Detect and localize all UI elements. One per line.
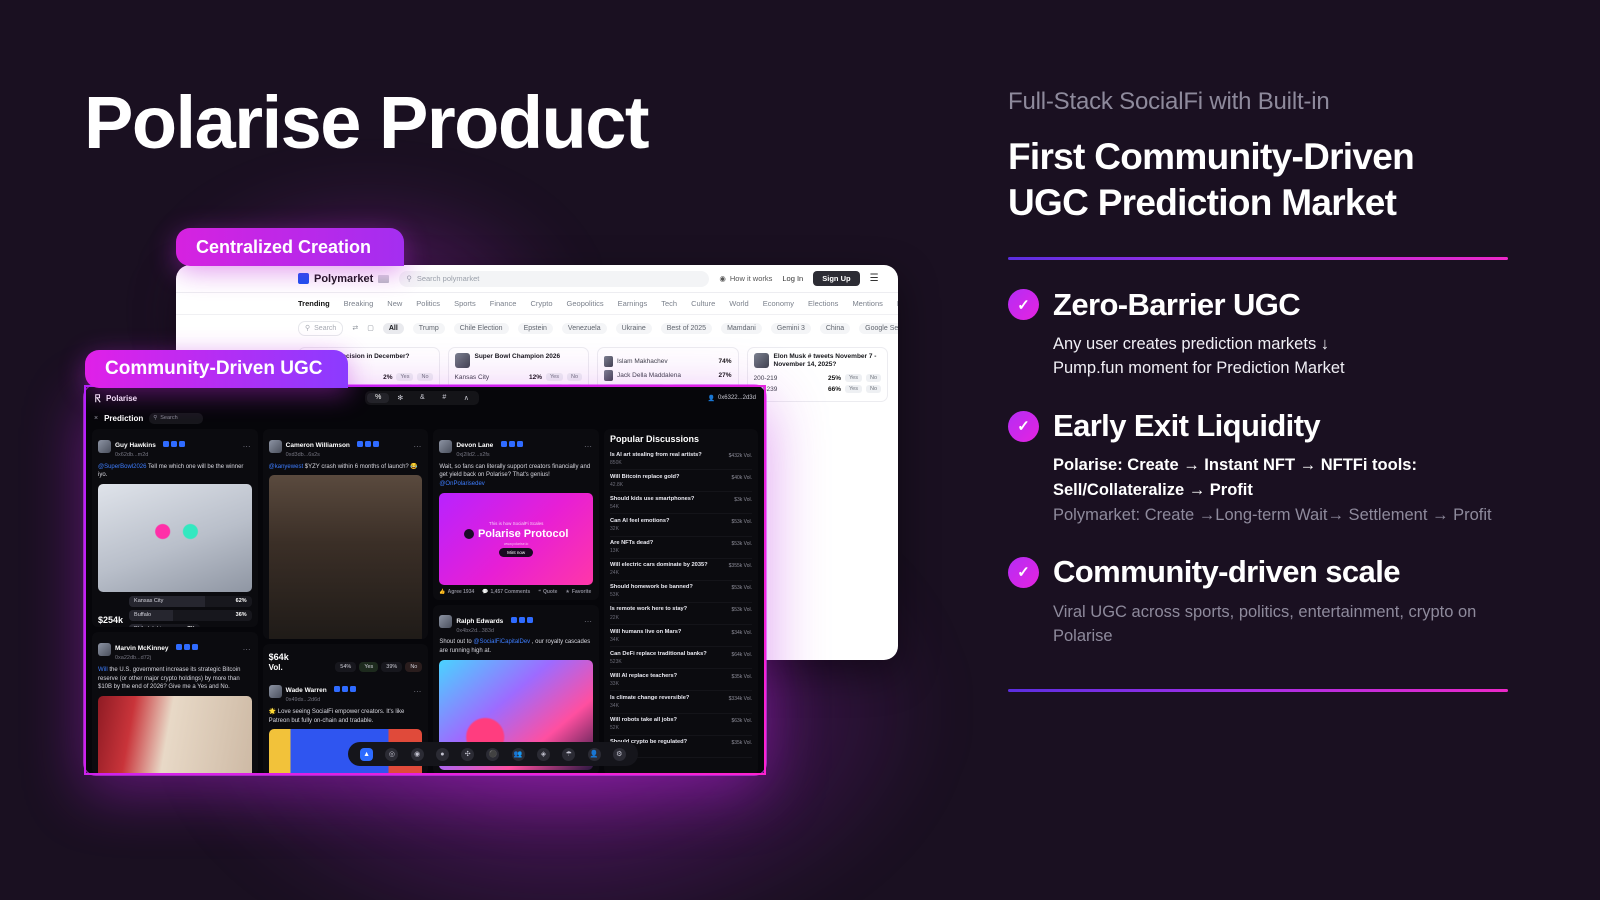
discussion-count: 13K bbox=[610, 548, 653, 554]
nav-item-new[interactable]: New bbox=[387, 299, 402, 308]
polarise-brand-label: Polarise bbox=[106, 394, 137, 403]
chip-ukraine[interactable]: Ukraine bbox=[616, 323, 652, 334]
umbrella-icon[interactable]: ☂ bbox=[562, 748, 575, 761]
no-button[interactable]: No bbox=[417, 373, 432, 381]
post-handle: 0x62db...m2d bbox=[115, 452, 185, 459]
verified-badges-icon bbox=[334, 686, 356, 692]
chip-chile-election[interactable]: Chile Election bbox=[454, 323, 509, 334]
discussion-item[interactable]: Should kids use smartphones?54K$3k Vol. bbox=[610, 492, 752, 514]
odds-percent: 36% bbox=[236, 612, 247, 618]
more-options-icon[interactable]: ⋯ bbox=[413, 442, 422, 451]
feed-post[interactable]: Guy Hawkins 0x62db...m2d ⋯ @SuperBowl202… bbox=[92, 429, 258, 627]
protocol-url: www.polarise.io bbox=[504, 542, 528, 546]
chip-china[interactable]: China bbox=[820, 323, 850, 334]
discussion-question: Can DeFi replace traditional banks? bbox=[610, 651, 707, 658]
globe-icon[interactable]: ◉ bbox=[411, 748, 424, 761]
fighter-icon bbox=[604, 356, 613, 367]
post-handle: 0xa22db...d72j bbox=[115, 655, 198, 662]
post-text: @SuperBowl2026 Tell me which one will be… bbox=[98, 463, 252, 480]
polarise-bottom-nav: ▲ ◎ ◉ ● ✣ ⚫ 👥 ◈ ☂ 👤 ⚙ bbox=[348, 742, 638, 766]
discussion-volume: $40k Vol. bbox=[731, 474, 752, 481]
how-it-works-label: How it works bbox=[730, 274, 773, 283]
odds-name: Philadelphia bbox=[134, 626, 164, 627]
post-volume-label: Vol. bbox=[98, 626, 123, 627]
avatar bbox=[269, 685, 282, 698]
badge-centralized-creation: Centralized Creation bbox=[176, 228, 404, 266]
market-outcome-row: 200-219 25% Yes No bbox=[754, 374, 882, 382]
discussion-volume: $432k Vol. bbox=[729, 452, 752, 459]
post-prefix: Shout out to bbox=[439, 639, 471, 645]
post-mention[interactable]: @kanyewest bbox=[269, 464, 303, 470]
filter-search-placeholder: Search bbox=[314, 325, 336, 332]
page-title: Polarise Product bbox=[84, 86, 648, 160]
avatar bbox=[439, 615, 452, 628]
post-image bbox=[98, 696, 252, 775]
polarise-search-input[interactable]: ⚲ Search bbox=[149, 413, 203, 424]
post-author: Wade Warren bbox=[286, 687, 327, 694]
discussion-volume: $64k Vol. bbox=[731, 651, 752, 658]
feed-post[interactable]: Devon Lane 0xj2lld2...s2fs ⋯ Wait, so fa… bbox=[433, 429, 599, 600]
polymarket-logo-icon bbox=[298, 273, 309, 284]
nav-item-finance[interactable]: Finance bbox=[490, 299, 517, 308]
quote-label: Quote bbox=[543, 589, 557, 595]
odds-row[interactable]: Kansas City62% bbox=[129, 596, 252, 607]
tab-prediction[interactable]: Prediction bbox=[104, 414, 143, 423]
no-button[interactable]: No bbox=[567, 373, 582, 381]
agree-button[interactable]: 👍 Agree 1934 bbox=[439, 589, 474, 595]
polymarket-filter-bar: ⚲ Search ⇄ ▢ All Trump Chile Election Ep… bbox=[176, 315, 898, 341]
market-card[interactable]: Elon Musk # tweets November 7 - November… bbox=[747, 347, 889, 402]
market-outcome-row: Islam Makhachev 74% bbox=[604, 356, 732, 367]
discussion-item[interactable]: Is climate change reversible?34K$334k Vo… bbox=[610, 691, 752, 713]
favorite-label: Favorite bbox=[572, 589, 591, 595]
post-volume: $64k bbox=[269, 653, 289, 663]
discussion-volume: $53k Vol. bbox=[731, 518, 752, 525]
outcome-name: Kansas City bbox=[455, 374, 525, 381]
toolbar-pill-hash[interactable]: # bbox=[433, 393, 455, 403]
comments-label: 1,457 Comments bbox=[491, 589, 531, 595]
nav-item-culture[interactable]: Culture bbox=[691, 299, 715, 308]
discussion-item[interactable]: Will electric cars dominate by 2035?24K$… bbox=[610, 559, 752, 581]
discussion-volume: $35k Vol. bbox=[731, 673, 752, 680]
discussion-volume: $53k Vol. bbox=[731, 606, 752, 613]
post-text: Shout out to @SocialFiCapitalDev , our r… bbox=[439, 638, 593, 655]
feature-early-exit-liquidity: ✓ Early Exit Liquidity Polarise: Create … bbox=[1008, 409, 1508, 527]
flag-icon bbox=[378, 275, 389, 283]
feature-title: Early Exit Liquidity bbox=[1053, 409, 1320, 443]
discussion-volume: $334k Vol. bbox=[729, 695, 752, 702]
post-volume: $254k bbox=[98, 616, 123, 626]
post-actions: 👍 Agree 1934 💬 1,457 Comments ❝ Quote ★ … bbox=[439, 589, 593, 595]
nav-item-breaking[interactable]: Breaking bbox=[344, 299, 374, 308]
search-icon: ⚲ bbox=[153, 415, 157, 421]
verified-badges-icon bbox=[501, 441, 523, 447]
polarise-topbar: Polarise % ✻ & # ∧ 👤 0x6322...2d3d bbox=[86, 387, 764, 409]
market-outcome-row: 220-239 66% Yes No bbox=[754, 385, 882, 393]
discussion-question: Should homework be banned? bbox=[610, 584, 693, 591]
discussion-count: 53K bbox=[610, 592, 693, 598]
post-volume-label: Vol. bbox=[269, 663, 289, 672]
discussion-count: 22K bbox=[610, 615, 687, 621]
toolbar-pill-caret[interactable]: ∧ bbox=[455, 393, 477, 403]
feature-community-driven-scale: ✓ Community-driven scale Viral UGC acros… bbox=[1008, 555, 1508, 649]
post-body: Wait, so fans can literally support crea… bbox=[439, 464, 590, 479]
post-odds: $64k Vol. 54% Yes 39% No bbox=[269, 653, 423, 672]
post-text: @kanyewest $YZY crash within 6 months of… bbox=[269, 463, 423, 472]
post-handle: 0xj2lld2...s2fs bbox=[456, 452, 522, 459]
protocol-title-label: Polarise Protocol bbox=[478, 528, 568, 540]
discussion-question: Will robots take all jobs? bbox=[610, 717, 677, 724]
fighter-icon bbox=[604, 370, 613, 381]
headline: First Community-Driven UGC Prediction Ma… bbox=[1008, 134, 1508, 227]
post-author: Cameron Williamson bbox=[286, 442, 350, 449]
polymarket-filter-search-input[interactable]: ⚲ Search bbox=[298, 321, 343, 336]
polymarket-nav: Trending Breaking New Politics Sports Fi… bbox=[176, 293, 898, 315]
wallet-button[interactable]: 👤 0x6322...2d3d bbox=[707, 395, 756, 402]
discussion-question: Will Bitcoin replace gold? bbox=[610, 474, 679, 481]
discussion-count: 42.8K bbox=[610, 482, 679, 488]
person-icon[interactable]: 👤 bbox=[588, 748, 601, 761]
home-icon[interactable]: ▲ bbox=[360, 748, 373, 761]
nav-item-tech[interactable]: Tech bbox=[661, 299, 677, 308]
polymarket-logo: Polymarket bbox=[298, 273, 389, 285]
discussion-count: 34K bbox=[610, 703, 689, 709]
market-title: Elon Musk # tweets November 7 - November… bbox=[774, 353, 882, 369]
toolbar-pill-star[interactable]: ✻ bbox=[389, 393, 411, 403]
toolbar-pill-percent[interactable]: % bbox=[367, 393, 389, 403]
odds-name: Buffalo bbox=[134, 612, 151, 618]
odds-percent: 62% bbox=[236, 598, 247, 604]
discussion-question: Will electric cars dominate by 2035? bbox=[610, 562, 708, 569]
chip-best-of-2025[interactable]: Best of 2025 bbox=[661, 323, 712, 334]
divider-bottom bbox=[1008, 689, 1508, 692]
odds-name: Kansas City bbox=[134, 598, 163, 604]
discussion-volume: $3k Vol. bbox=[734, 496, 752, 503]
sparkle-icon[interactable]: ✣ bbox=[461, 748, 474, 761]
feature-line-1: Viral UGC across sports, politics, enter… bbox=[1053, 600, 1508, 650]
discussion-item[interactable]: Will humans live on Mars?34K$34k Vol. bbox=[610, 625, 752, 647]
outcome-percent: 2% bbox=[383, 374, 392, 381]
discussion-item[interactable]: Is AI art stealing from real artists?850… bbox=[610, 448, 752, 470]
polarise-feed-body: Guy Hawkins 0x62db...m2d ⋯ @SuperBowl202… bbox=[86, 427, 764, 775]
more-options-icon[interactable]: ⋯ bbox=[584, 617, 593, 626]
wallet-address: 0x6322...2d3d bbox=[718, 395, 756, 401]
polymarket-search-placeholder: Search polymarket bbox=[417, 274, 480, 283]
feed-column-2: Cameron Williamson 0xd3db...6s2s ⋯ @kany… bbox=[263, 429, 429, 775]
check-icon: ✓ bbox=[1008, 557, 1039, 588]
more-options-icon[interactable]: ⋯ bbox=[413, 687, 422, 696]
post-text: 🌟 Love seeing SocialFi empower creators.… bbox=[269, 708, 423, 725]
nav-item-politics[interactable]: Politics bbox=[416, 299, 440, 308]
bookmark-icon[interactable]: ▢ bbox=[367, 324, 374, 332]
discussion-count: 54K bbox=[610, 504, 694, 510]
no-button[interactable]: No bbox=[866, 374, 881, 382]
discussion-count: 24K bbox=[610, 570, 708, 576]
outcome-percent: 27% bbox=[718, 372, 731, 379]
market-title: Super Bowl Champion 2026 bbox=[475, 353, 561, 361]
feed-column-3: Devon Lane 0xj2lld2...s2fs ⋯ Wait, so fa… bbox=[433, 429, 599, 775]
discussion-count: 34K bbox=[610, 637, 681, 643]
discussion-volume: $53k Vol. bbox=[731, 540, 752, 547]
chip-venezuela[interactable]: Venezuela bbox=[562, 323, 607, 334]
post-odds: $254k Vol. Kansas City62% Buffalo36% Phi… bbox=[98, 596, 252, 627]
odds-percent-yes: 54% bbox=[335, 662, 356, 672]
chip-trump[interactable]: Trump bbox=[413, 323, 445, 334]
chip-gemini-3[interactable]: Gemini 3 bbox=[771, 323, 811, 334]
verified-badges-icon bbox=[357, 441, 379, 447]
post-image bbox=[98, 484, 252, 592]
polymarket-topbar: Polymarket ⚲ Search polymarket ◉ How it … bbox=[176, 265, 898, 293]
outcome-percent: 74% bbox=[718, 358, 731, 365]
feature-line-1: Any user creates prediction markets ↓ bbox=[1053, 332, 1508, 357]
outcome-name: Islam Makhachev bbox=[617, 358, 714, 365]
headline-line-2: UGC Prediction Market bbox=[1008, 180, 1508, 226]
search-icon: ⚲ bbox=[406, 274, 412, 283]
post-author: Marvin McKinney bbox=[115, 645, 168, 652]
avatar bbox=[98, 643, 111, 656]
discussion-count: 523K bbox=[610, 659, 707, 665]
discussion-item[interactable]: Can DeFi replace traditional banks?523K$… bbox=[610, 647, 752, 669]
nav-item-crypto[interactable]: Crypto bbox=[530, 299, 552, 308]
yes-button[interactable]: Yes bbox=[396, 373, 413, 381]
post-mention[interactable]: @SocialFiCapitalDev bbox=[473, 639, 530, 645]
how-it-works-link[interactable]: ◉ How it works bbox=[719, 274, 772, 283]
discussion-item[interactable]: Will AI replace teachers?33K$35k Vol. bbox=[610, 669, 752, 691]
agree-label: Agree 1934 bbox=[448, 589, 475, 595]
yes-button[interactable]: Yes bbox=[845, 374, 862, 382]
verified-badges-icon bbox=[511, 617, 533, 623]
gear-icon[interactable]: ⚙ bbox=[613, 748, 626, 761]
post-body: the U.S. government increase its strateg… bbox=[98, 667, 240, 690]
post-image bbox=[269, 475, 423, 639]
nav-item-elections[interactable]: Elections bbox=[808, 299, 838, 308]
polarise-tabbar: × Prediction ⚲ Search bbox=[86, 409, 764, 427]
post-mention[interactable]: @SuperBowl2026 bbox=[98, 464, 146, 470]
divider-top bbox=[1008, 257, 1508, 260]
right-panel: Full-Stack SocialFi with Built-in First … bbox=[1008, 88, 1508, 692]
discussion-question: Can AI feel emotions? bbox=[610, 518, 670, 525]
post-body: $YZY crash within 6 months of launch? 😂 bbox=[305, 464, 418, 470]
polarise-logo-icon bbox=[94, 394, 102, 403]
discussion-volume: $35k Vol. bbox=[731, 739, 752, 746]
discussion-volume: $34k Vol. bbox=[731, 629, 752, 636]
chip-epstein[interactable]: Epstein bbox=[518, 323, 553, 334]
info-icon: ◉ bbox=[719, 274, 726, 283]
verified-badges-icon bbox=[163, 441, 185, 447]
feature-line-2: Polymarket: Create →Long-term Wait→ Sett… bbox=[1053, 503, 1508, 528]
post-text: Wait, so fans can literally support crea… bbox=[439, 463, 593, 489]
discussion-volume: $63k Vol. bbox=[731, 717, 752, 724]
post-author: Ralph Edwards bbox=[456, 618, 503, 625]
post-mention[interactable]: Will bbox=[98, 667, 108, 673]
chat-icon[interactable]: ⚫ bbox=[486, 748, 499, 761]
verified-badges-icon bbox=[176, 644, 198, 650]
person-icon: 👤 bbox=[707, 395, 714, 402]
market-thumbnail bbox=[455, 353, 470, 368]
discussion-question: Is remote work here to stay? bbox=[610, 606, 687, 613]
post-author: Guy Hawkins bbox=[115, 442, 156, 449]
nav-item-economy[interactable]: Economy bbox=[763, 299, 794, 308]
discussion-item[interactable]: Can AI feel emotions?32K$53k Vol. bbox=[610, 514, 752, 536]
eyebrow-text: Full-Stack SocialFi with Built-in bbox=[1008, 88, 1508, 116]
post-handle: 0x49ds...2d6d bbox=[286, 697, 357, 704]
discussion-item[interactable]: Will Bitcoin replace gold?42.8K$40k Vol. bbox=[610, 470, 752, 492]
check-icon: ✓ bbox=[1008, 289, 1039, 320]
market-outcome-row: Jack Della Maddalena 27% bbox=[604, 370, 732, 381]
feature-line-2: Pump.fun moment for Prediction Market bbox=[1053, 356, 1508, 381]
feed-post[interactable]: Marvin McKinney 0xa22db...d72j ⋯ Will th… bbox=[92, 632, 258, 775]
discussion-count: 850K bbox=[610, 460, 702, 466]
post-author: Devon Lane bbox=[456, 442, 493, 449]
avatar bbox=[98, 440, 111, 453]
outcome-percent: 25% bbox=[828, 375, 841, 382]
post-handle: 0x4bx2d...383d bbox=[456, 628, 532, 635]
yes-button[interactable]: Yes bbox=[359, 662, 378, 672]
nav-item-sports[interactable]: Sports bbox=[454, 299, 476, 308]
odds-percent: 8% bbox=[187, 626, 195, 627]
outcome-percent: 66% bbox=[828, 386, 841, 393]
discussion-question: Are NFTs dead? bbox=[610, 540, 653, 547]
polarise-logo: Polarise bbox=[94, 394, 137, 403]
signup-button[interactable]: Sign Up bbox=[813, 271, 859, 286]
popular-discussions-title: Popular Discussions bbox=[610, 434, 752, 444]
feature-title: Zero-Barrier UGC bbox=[1053, 288, 1300, 322]
post-handle: 0xd3db...6s2s bbox=[286, 452, 380, 459]
check-icon: ✓ bbox=[1008, 411, 1039, 442]
more-options-icon[interactable]: ⋯ bbox=[584, 442, 593, 451]
search-icon: ⚲ bbox=[305, 324, 310, 332]
feed-post[interactable]: Cameron Williamson 0xd3db...6s2s ⋯ @kany… bbox=[263, 429, 429, 639]
yes-button[interactable]: Yes bbox=[546, 373, 563, 381]
polarise-logo-icon bbox=[464, 529, 474, 539]
compass-icon[interactable]: ◎ bbox=[385, 748, 398, 761]
polarise-toolbar: % ✻ & # ∧ bbox=[365, 391, 479, 405]
protocol-title: Polarise Protocol bbox=[464, 528, 568, 540]
toolbar-pill-amp[interactable]: & bbox=[411, 393, 433, 403]
outcome-percent: 12% bbox=[529, 374, 542, 381]
badge-community-driven-ugc: Community-Driven UGC bbox=[85, 350, 348, 388]
discussion-item[interactable]: Will robots take all jobs?52K$63k Vol. bbox=[610, 714, 752, 736]
nav-item-earnings[interactable]: Earnings bbox=[618, 299, 648, 308]
odds-row[interactable]: Buffalo36% bbox=[129, 610, 252, 621]
discussion-count: 52K bbox=[610, 725, 677, 731]
outcome-name: 200-219 bbox=[754, 375, 824, 382]
discussion-item[interactable]: Is remote work here to stay?22K$53k Vol. bbox=[610, 603, 752, 625]
protocol-subtitle: This is how SocialFi Scales bbox=[489, 521, 544, 526]
odds-row[interactable]: Philadelphia8% bbox=[129, 624, 200, 627]
avatar bbox=[439, 440, 452, 453]
login-button[interactable]: Log In bbox=[782, 274, 803, 283]
clock-icon[interactable]: ● bbox=[436, 748, 449, 761]
feature-title: Community-driven scale bbox=[1053, 555, 1400, 589]
nav-item-trending[interactable]: Trending bbox=[298, 299, 330, 308]
discussion-question: Will humans live on Mars? bbox=[610, 629, 681, 636]
people-icon[interactable]: 👥 bbox=[512, 748, 525, 761]
chip-google-search[interactable]: Google Search bbox=[859, 323, 898, 334]
discussion-question: Will AI replace teachers? bbox=[610, 673, 677, 680]
more-options-icon[interactable]: ⋯ bbox=[243, 442, 252, 451]
outcome-name: Jack Della Maddalena bbox=[617, 372, 714, 379]
shield-icon[interactable]: ◈ bbox=[537, 748, 550, 761]
yes-button[interactable]: Yes bbox=[845, 385, 862, 393]
post-image-protocol-card: This is how SocialFi Scales Polarise Pro… bbox=[439, 493, 593, 585]
no-button[interactable]: No bbox=[866, 385, 881, 393]
discussion-question: Is AI art stealing from real artists? bbox=[610, 452, 702, 459]
discussion-volume: $53k Vol. bbox=[731, 584, 752, 591]
hamburger-menu-icon[interactable]: ☰ bbox=[870, 273, 879, 284]
market-outcome-row: Kansas City 12% Yes No bbox=[455, 373, 583, 381]
comments-button[interactable]: 💬 1,457 Comments bbox=[482, 589, 530, 595]
discussion-count: 32K bbox=[610, 526, 670, 532]
discussion-item[interactable]: Should homework be banned?53K$53k Vol. bbox=[610, 581, 752, 603]
market-thumbnail bbox=[754, 353, 769, 368]
discussion-volume: $355k Vol. bbox=[729, 562, 752, 569]
quote-button[interactable]: ❝ Quote bbox=[538, 589, 557, 595]
popular-discussions-panel: Popular Discussions Is AI art stealing f… bbox=[604, 429, 758, 775]
discussion-question: Should kids use smartphones? bbox=[610, 496, 694, 503]
no-button[interactable]: No bbox=[405, 662, 422, 672]
mint-now-button[interactable]: Mint now bbox=[499, 548, 533, 557]
nav-item-mentions[interactable]: Mentions bbox=[852, 299, 882, 308]
sort-icon[interactable]: ⇄ bbox=[352, 324, 358, 332]
polarise-search-placeholder: Search bbox=[160, 415, 177, 421]
post-text: Will the U.S. government increase its st… bbox=[98, 666, 252, 692]
headline-line-1: First Community-Driven bbox=[1008, 134, 1508, 180]
avatar bbox=[269, 440, 282, 453]
chip-all[interactable]: All bbox=[383, 323, 404, 334]
polarise-app-window: Polarise % ✻ & # ∧ 👤 0x6322...2d3d × Pre… bbox=[84, 385, 766, 775]
polymarket-search-input[interactable]: ⚲ Search polymarket bbox=[399, 271, 709, 287]
favorite-button[interactable]: ★ Favorite bbox=[565, 589, 591, 595]
nav-item-more[interactable]: More bbox=[897, 299, 898, 308]
discussion-item[interactable]: Are NFTs dead?13K$53k Vol. bbox=[610, 537, 752, 559]
chip-mamdani[interactable]: Mamdani bbox=[721, 323, 762, 334]
polymarket-brand-label: Polymarket bbox=[314, 273, 373, 285]
odds-percent-no: 39% bbox=[381, 662, 402, 672]
close-icon[interactable]: × bbox=[94, 415, 98, 422]
discussion-count: 33K bbox=[610, 681, 677, 687]
inline-odds: 54% Yes 39% No bbox=[295, 662, 423, 672]
feed-column-1: Guy Hawkins 0x62db...m2d ⋯ @SuperBowl202… bbox=[92, 429, 258, 775]
post-mention[interactable]: @OnPolarisedev bbox=[439, 481, 484, 487]
more-options-icon[interactable]: ⋯ bbox=[243, 645, 252, 654]
nav-item-world[interactable]: World bbox=[729, 299, 748, 308]
discussion-question: Is climate change reversible? bbox=[610, 695, 689, 702]
feature-zero-barrier-ugc: ✓ Zero-Barrier UGC Any user creates pred… bbox=[1008, 288, 1508, 382]
nav-item-geopolitics[interactable]: Geopolitics bbox=[567, 299, 604, 308]
feature-line-1: Polarise: Create → Instant NFT → NFTFi t… bbox=[1053, 453, 1508, 503]
